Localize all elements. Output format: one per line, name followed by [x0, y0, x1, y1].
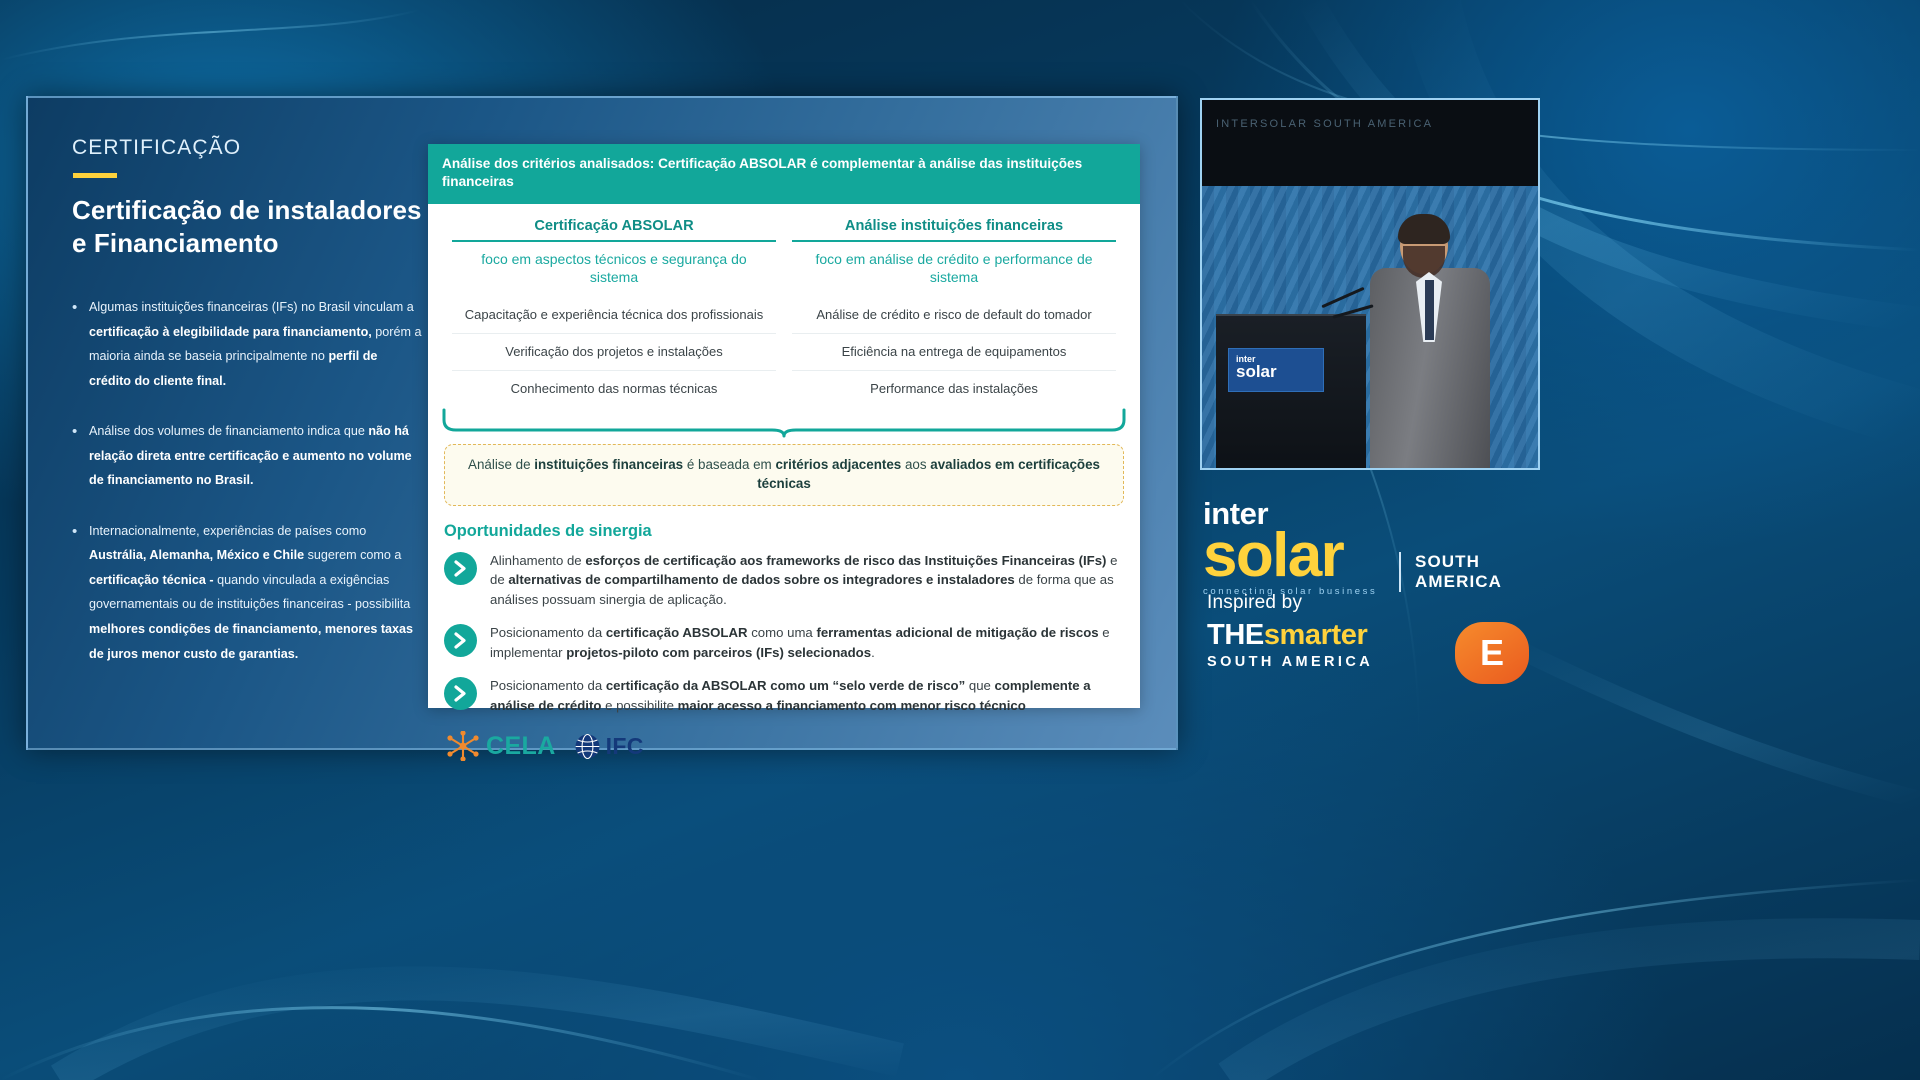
bullet-dot-icon: •: [72, 419, 89, 493]
the-smarter-e-logo: Inspired by THE smarter SOUTH AMERICA E: [1207, 592, 1547, 670]
synergy-header: Oportunidades de sinergia: [444, 522, 1140, 541]
column-item: Verificação dos projetos e instalações: [452, 333, 776, 370]
intersolar-logo: inter solar connecting solar business SO…: [1203, 500, 1543, 597]
inspired-by-label: Inspired by: [1207, 592, 1547, 614]
yellow-callout-box: Análise de instituições financeiras é ba…: [444, 444, 1124, 505]
smarter-the: THE: [1207, 619, 1264, 652]
ifc-logo: IFC: [574, 733, 644, 760]
intersolar-region: SOUTH AMERICA: [1399, 552, 1543, 592]
slide-bullet: •Algumas instituições financeiras (IFs) …: [72, 295, 422, 393]
cela-mark-icon: [446, 731, 480, 761]
presentation-slide: CERTIFICAÇÃO Certificação de instaladore…: [26, 96, 1178, 750]
synergy-text: Posicionamento da certificação ABSOLAR c…: [490, 622, 1122, 662]
partner-logos: CELA IFC: [446, 731, 1140, 761]
bullet-text: Análise dos volumes de financiamento ind…: [89, 419, 422, 493]
synergy-list: Alinhamento de esforços de certificação …: [428, 550, 1140, 716]
column-item: Conhecimento das normas técnicas: [452, 370, 776, 407]
column-item: Análise de crédito e risco de default do…: [792, 297, 1116, 333]
smarter-e-glyph: E: [1480, 635, 1504, 671]
ifc-globe-icon: [574, 733, 601, 760]
bullet-text: Algumas instituições financeiras (IFs) n…: [89, 295, 422, 393]
content-card: Análise dos critérios analisados: Certif…: [428, 144, 1140, 708]
comparison-column-1: Certificação ABSOLARfoco em aspectos téc…: [444, 218, 784, 407]
podium: [1216, 314, 1366, 470]
speaker-tie: [1425, 280, 1434, 340]
slide-bullet: •Internacionalmente, experiências de paí…: [72, 519, 422, 666]
column-title: Certificação ABSOLAR: [452, 218, 776, 242]
column-subtitle: foco em análise de crédito e performance…: [792, 242, 1116, 297]
column-item: Eficiência na entrega de equipamentos: [792, 333, 1116, 370]
synergy-item: Posicionamento da certificação da ABSOLA…: [444, 675, 1122, 715]
slide-title: Certificação de instaladores e Financiam…: [72, 194, 422, 259]
speaker-video-feed[interactable]: INTERSOLAR SOUTH AMERICA inter solar: [1200, 98, 1540, 470]
speaker-hair: [1398, 214, 1450, 244]
synergy-item: Posicionamento da certificação ABSOLAR c…: [444, 622, 1122, 662]
video-overlay-text: INTERSOLAR SOUTH AMERICA: [1216, 118, 1433, 130]
synergy-text: Posicionamento da certificação da ABSOLA…: [490, 675, 1122, 715]
chevron-right-icon: [444, 677, 477, 710]
brace-svg: [442, 408, 1126, 438]
chevron-right-icon: [444, 624, 477, 657]
slide-bullet: •Análise dos volumes de financiamento in…: [72, 419, 422, 493]
video-dark-backdrop: INTERSOLAR SOUTH AMERICA: [1202, 100, 1538, 188]
comparison-columns: Certificação ABSOLARfoco em aspectos téc…: [428, 204, 1140, 407]
ifc-logo-text: IFC: [606, 733, 644, 760]
cela-logo: CELA: [446, 731, 556, 761]
smarter-smarter: smarter: [1264, 619, 1368, 652]
bullet-text: Internacionalmente, experiências de país…: [89, 519, 422, 666]
chevron-right-icon: [444, 552, 477, 585]
cela-logo-text: CELA: [486, 732, 556, 761]
podium-badge: inter solar: [1228, 348, 1324, 392]
column-item: Capacitação e experiência técnica dos pr…: [452, 297, 776, 333]
column-subtitle: foco em aspectos técnicos e segurança do…: [452, 242, 776, 297]
teal-brace: [442, 408, 1126, 438]
slide-kicker: CERTIFICAÇÃO: [72, 136, 422, 160]
smarter-e-badge-icon: E: [1455, 622, 1529, 684]
podium-badge-line2: solar: [1236, 362, 1323, 382]
bullet-dot-icon: •: [72, 519, 89, 666]
synergy-text: Alinhamento de esforços de certificação …: [490, 550, 1122, 610]
slide-bullet-list: •Algumas instituições financeiras (IFs) …: [72, 295, 422, 666]
comparison-column-2: Análise instituições financeirasfoco em …: [784, 218, 1124, 407]
slide-left-column: CERTIFICAÇÃO Certificação de instaladore…: [72, 136, 422, 692]
card-header: Análise dos critérios analisados: Certif…: [428, 144, 1140, 204]
title-underline-rule: [73, 173, 117, 178]
synergy-item: Alinhamento de esforços de certificação …: [444, 550, 1122, 610]
bullet-dot-icon: •: [72, 295, 89, 393]
column-title: Análise instituições financeiras: [792, 218, 1116, 242]
column-item: Performance das instalações: [792, 370, 1116, 407]
speaker-figure: [1370, 218, 1490, 470]
